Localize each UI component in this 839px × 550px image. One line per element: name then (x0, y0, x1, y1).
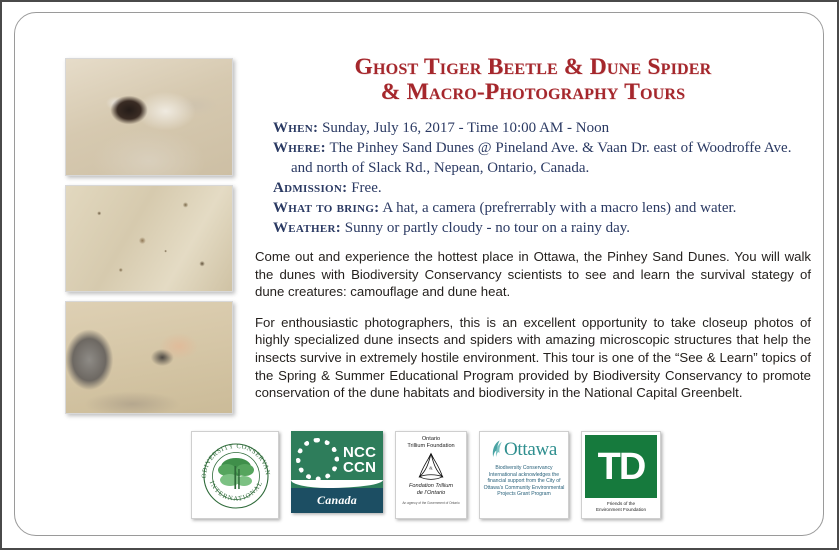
ottawa-mark: Ottawa (483, 436, 565, 462)
photo-column (65, 58, 233, 423)
td-letters: TD (598, 448, 645, 486)
body-paragraph-2: For enthousiastic photographers, this is… (255, 314, 811, 402)
trillium-en-line-1: Ontario (399, 436, 463, 443)
trillium-french-name: Fondation Trillium de l’Ontario (399, 483, 463, 498)
ncc-acronym-en: NCC (343, 445, 376, 460)
trillium-fr-line-1: Fondation Trillium (399, 483, 463, 490)
detail-row-admission: Admission: Free. (273, 179, 811, 199)
td-caption: Friends of the Environment Foundation (585, 498, 657, 513)
photo-photographers-on-dunes (65, 301, 233, 414)
detail-row-what-to-bring: What to bring: A hat, a camera (prefrerr… (273, 199, 811, 219)
event-details-list: When: Sunday, July 16, 2017 - Time 10:00… (255, 119, 811, 238)
content-column: Ghost Tiger Beetle & Dune Spider & Macro… (255, 55, 811, 402)
detail-label-when: When: (273, 120, 318, 136)
detail-value-what-to-bring: A hat, a camera (prefrerrably with a mac… (382, 200, 736, 216)
body-paragraph-1: Come out and experience the hottest plac… (255, 248, 811, 301)
detail-value-where: The Pinhey Sand Dunes @ Pineland Ave. & … (291, 140, 791, 176)
ncc-bottom-band: Canada (291, 488, 383, 513)
ottawa-leaf-icon (491, 439, 504, 459)
svg-text:&: & (429, 465, 433, 470)
poster-frame: Ghost Tiger Beetle & Dune Spider & Macro… (14, 12, 824, 536)
bci-seal-icon: BIODIVERSITY CONSERVANCY · INTERNATIONAL… (196, 436, 274, 514)
detail-value-weather: Sunny or partly cloudy - no tour on a ra… (345, 220, 630, 236)
logo-biodiversity-conservancy-international: BIODIVERSITY CONSERVANCY · INTERNATIONAL… (191, 431, 279, 519)
logo-ontario-trillium-foundation: Ontario Trillium Foundation & Fondation … (395, 431, 467, 519)
detail-value-admission: Free. (351, 180, 381, 196)
page-title-line-2: & Macro-Photography Tours (255, 80, 811, 105)
page-title-line-1: Ghost Tiger Beetle & Dune Spider (255, 55, 811, 80)
detail-label-admission: Admission: (273, 180, 347, 196)
photo-dune-spider (65, 185, 233, 292)
detail-label-weather: Weather: (273, 220, 341, 236)
trillium-en-line-2: Trillium Foundation (399, 443, 463, 450)
td-caption-line-2: Environment Foundation (585, 507, 657, 513)
ottawa-acknowledgement: Biodiversity Conservancy International a… (483, 465, 565, 498)
logo-nature-conservancy-canada: NCC CCN Canada (291, 431, 383, 513)
detail-row-when: When: Sunday, July 16, 2017 - Time 10:00… (273, 119, 811, 139)
detail-row-weather: Weather: Sunny or partly cloudy - no tou… (273, 219, 811, 239)
td-green-block: TD (585, 435, 657, 498)
detail-row-where: Where: The Pinhey Sand Dunes @ Pineland … (273, 139, 811, 178)
sponsor-logo-strip: BIODIVERSITY CONSERVANCY · INTERNATIONAL… (191, 431, 691, 523)
detail-value-when: Sunday, July 16, 2017 - Time 10:00 AM - … (322, 120, 609, 136)
logo-td-friends-of-the-environment: TD Friends of the Environment Foundation (581, 431, 661, 519)
photo-ghost-tiger-beetle (65, 58, 233, 176)
ottawa-wordmark: Ottawa (504, 440, 557, 459)
logo-city-of-ottawa: Ottawa Biodiversity Conservancy Internat… (479, 431, 569, 519)
detail-label-where: Where: (273, 140, 326, 156)
ncc-ring-icon (296, 438, 339, 481)
trillium-english-name: Ontario Trillium Foundation (399, 436, 463, 451)
trillium-fr-line-2: de l’Ontario (399, 490, 463, 497)
canada-wordmark: Canada (317, 493, 357, 508)
ncc-acronym-fr: CCN (343, 460, 376, 475)
ncc-acronym: NCC CCN (343, 445, 376, 475)
trillium-fine-print: An agency of the Government of Ontario (399, 501, 463, 505)
page-title: Ghost Tiger Beetle & Dune Spider & Macro… (255, 55, 811, 105)
trillium-flower-icon: & (399, 452, 463, 482)
detail-label-what-to-bring: What to bring: (273, 200, 379, 216)
